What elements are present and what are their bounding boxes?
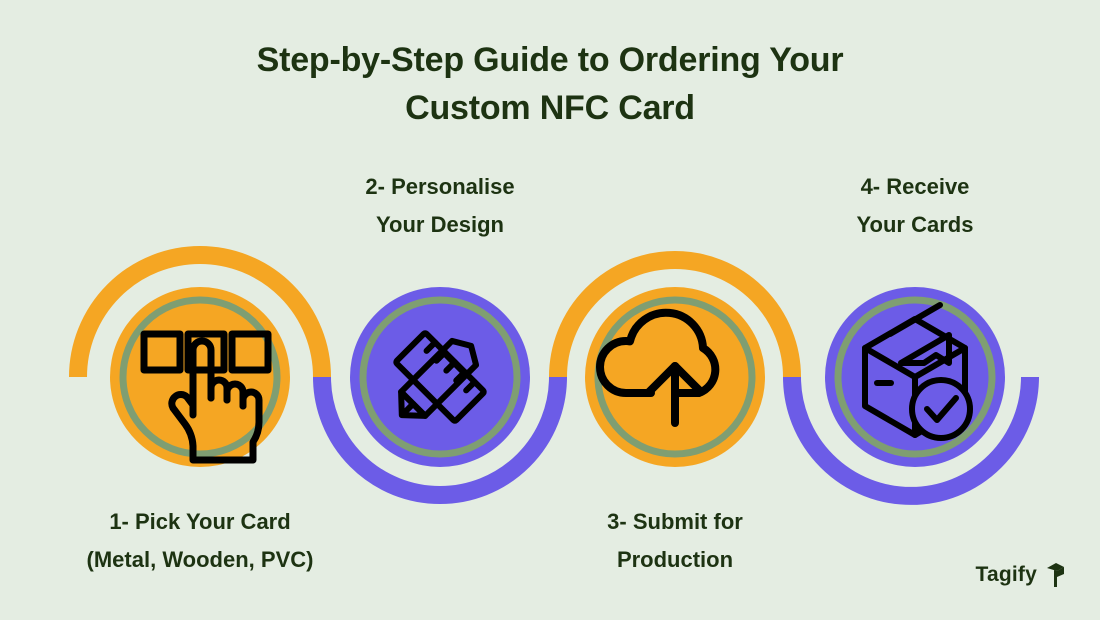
step-3-label-line-2: Production bbox=[555, 541, 795, 579]
tagify-leaf-mark-icon bbox=[1044, 562, 1066, 588]
step-4-circle[interactable] bbox=[825, 287, 1005, 467]
step-3-label-line-1: 3- Submit for bbox=[555, 503, 795, 541]
step-3-circle[interactable] bbox=[585, 287, 765, 467]
step-1-label: 1- Pick Your Card (Metal, Wooden, PVC) bbox=[20, 503, 380, 579]
step-2-fill bbox=[350, 287, 530, 467]
step-4-label-line-2: Your Cards bbox=[795, 206, 1035, 244]
step-1-label-line-1: 1- Pick Your Card bbox=[20, 503, 380, 541]
step-4-label-line-1: 4- Receive bbox=[795, 168, 1035, 206]
brand-logo: Tagify bbox=[976, 562, 1066, 588]
step-2-label-line-2: Your Design bbox=[320, 206, 560, 244]
step-4-label: 4- Receive Your Cards bbox=[795, 168, 1035, 244]
step-2-label-line-1: 2- Personalise bbox=[320, 168, 560, 206]
step-2-label: 2- Personalise Your Design bbox=[320, 168, 560, 244]
brand-logo-text: Tagify bbox=[976, 563, 1037, 587]
step-1-circle[interactable] bbox=[110, 287, 290, 467]
infographic-canvas: Step-by-Step Guide to Ordering Your Cust… bbox=[0, 0, 1100, 620]
step-2-circle[interactable] bbox=[350, 287, 530, 467]
step-1-label-line-2: (Metal, Wooden, PVC) bbox=[20, 541, 380, 579]
step-3-label: 3- Submit for Production bbox=[555, 503, 795, 579]
step-1-fill bbox=[110, 287, 290, 467]
